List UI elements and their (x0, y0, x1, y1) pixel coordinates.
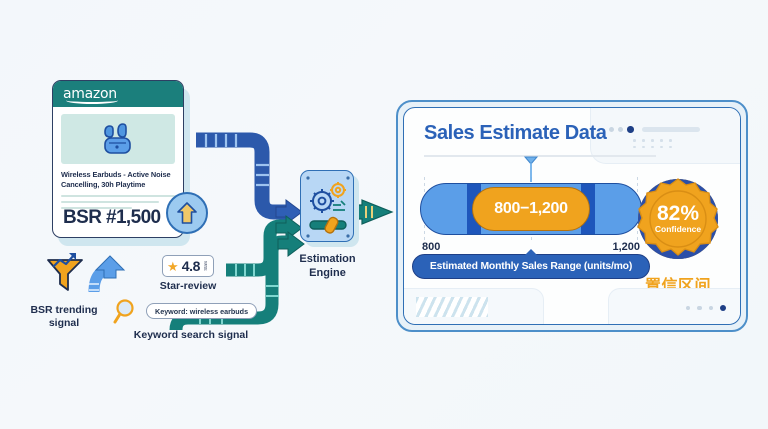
diagram-canvas: amazon Wireless Earbuds - Active Noise C… (0, 0, 768, 429)
confidence-label: Confidence (655, 224, 702, 234)
signal-keyword-search[interactable]: Keyword: wireless earbuds Keyword search… (112, 296, 270, 342)
keyword-badge: Keyword: wireless earbuds (146, 303, 257, 319)
magnifier-icon (112, 296, 142, 326)
footer-dot-2 (697, 306, 702, 311)
star-rating-badge: ★ 4.8 Stars (162, 255, 214, 277)
panel-footer-chip-right (608, 288, 740, 324)
signal-star-label: Star-review (150, 280, 226, 293)
up-arrow-icon (177, 201, 197, 225)
footer-dot-4 (720, 305, 726, 311)
panel-header-dots (609, 126, 700, 133)
signal-star-review[interactable]: ★ 4.8 Stars Star-review (150, 255, 226, 293)
product-image (61, 114, 175, 164)
bsr-trend-badge (166, 192, 208, 234)
estimate-value: 800−1,200 (472, 187, 590, 231)
footer-dot-3 (709, 306, 714, 311)
earbuds-icon (96, 122, 140, 156)
title-divider (424, 155, 656, 157)
amazon-logo: amazon (63, 86, 117, 102)
star-icon: ★ (167, 260, 179, 273)
confidence-percent: 82% (657, 202, 699, 225)
pin-marker-icon (523, 155, 539, 183)
confidence-block: 82% Confidence 置信区间 (632, 176, 724, 296)
keyword-row: Keyword: wireless earbuds (112, 296, 270, 326)
sales-estimate-panel: Sales Estimate Data 800−1,200 800 1, (396, 100, 748, 332)
amazon-product-card[interactable]: amazon Wireless Earbuds - Active Noise C… (52, 80, 184, 238)
engine-label-line1: Estimation (299, 253, 355, 265)
gears-slider-icon (301, 171, 355, 243)
axis-min-label: 800 (422, 241, 440, 253)
header-dot-2 (618, 127, 623, 132)
header-dot-1 (609, 127, 614, 132)
footer-dot-1 (686, 306, 691, 311)
range-capsule[interactable]: 800−1,200 (420, 183, 642, 235)
amazon-smile-icon (66, 97, 118, 104)
star-rating-value: 4.8 (182, 258, 200, 274)
product-bsr-value: BSR #1,500 (63, 207, 161, 229)
pill-notch (525, 249, 537, 255)
signal-bsr-label-line2: signal (49, 317, 79, 329)
panel-footer-dots (686, 305, 727, 311)
header-dot-grid (633, 139, 678, 148)
range-caption-text: Estimated Monthly Sales Range (units/mo) (430, 261, 632, 272)
engine-label-line2: Engine (309, 267, 346, 279)
range-caption-pill: Estimated Monthly Sales Range (units/mo) (412, 254, 650, 279)
header-dot-3 (627, 126, 634, 133)
funnel-trend-icon (38, 252, 90, 296)
seal-badge-icon: 82% Confidence (633, 176, 723, 262)
panel-inner: Sales Estimate Data 800−1,200 800 1, (403, 107, 741, 325)
signal-bsr-label: BSR trending signal (16, 304, 112, 330)
page-title: Sales Estimate Data (424, 122, 607, 145)
estimation-engine-box[interactable] (300, 170, 354, 242)
header-bar (642, 127, 700, 132)
sales-range-chart: 800−1,200 800 1,200 (420, 183, 642, 253)
star-rating-unit: Stars (203, 261, 208, 271)
estimation-engine-label: Estimation Engine (275, 252, 380, 281)
signal-bsr-label-line1: BSR trending (30, 304, 97, 316)
decor-stripes-bottom-left (416, 297, 488, 317)
product-title: Wireless Earbuds - Active Noise Cancelli… (53, 170, 183, 190)
amazon-card-header: amazon (53, 81, 183, 107)
signal-keyword-label: Keyword search signal (112, 329, 270, 342)
curved-up-arrow-icon (88, 248, 134, 298)
